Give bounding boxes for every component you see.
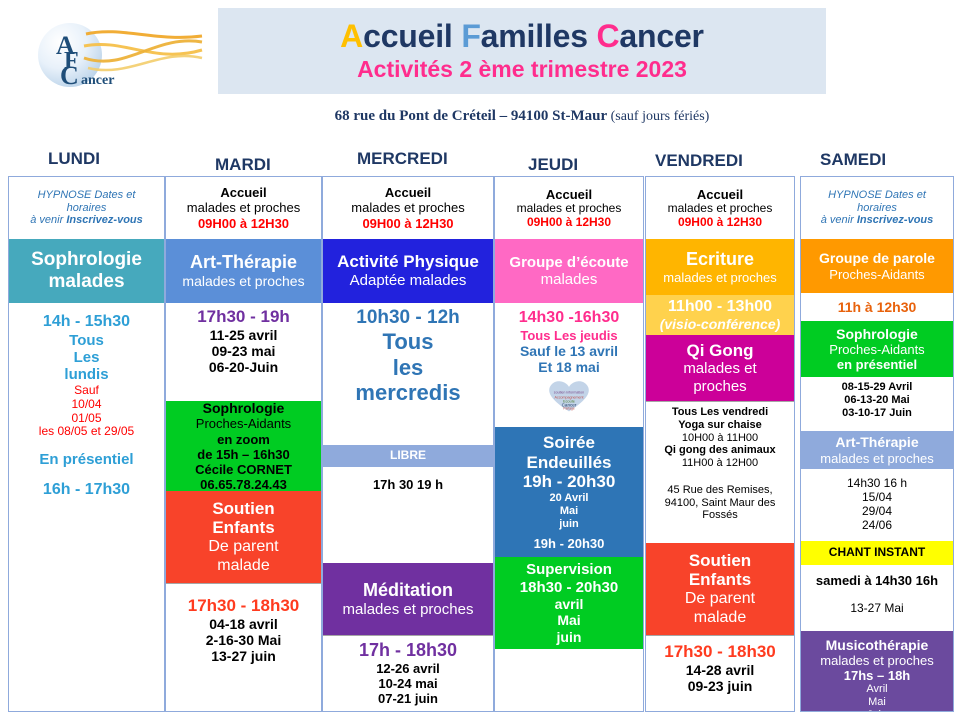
address-line: 68 rue du Pont de Créteil – 94100 St-Mau… bbox=[218, 108, 826, 125]
soutien-line3: De parent bbox=[168, 538, 319, 557]
musico-date-2: Mai bbox=[803, 696, 951, 709]
soutien-line2: Enfants bbox=[168, 518, 319, 538]
ecriture-time: 11h00 - 13h00 bbox=[648, 298, 792, 317]
vendredi-address-1: 45 Rue des Remises, bbox=[648, 484, 792, 497]
soutien-date-1: 04-18 avril bbox=[168, 616, 319, 632]
groupe-parole-time: 11h à 12h30 bbox=[803, 299, 951, 315]
musico-time: 17hs – 18h bbox=[803, 668, 951, 683]
soutien-line1: Soutien bbox=[648, 551, 792, 571]
libre-label: LIBRE bbox=[325, 449, 491, 463]
groupe-sauf-1: Sauf le 13 avril bbox=[497, 343, 641, 359]
groupe-ecoute-title: Groupe d’écoute bbox=[497, 254, 641, 271]
qigong-sub-2: proches bbox=[648, 378, 792, 395]
vendredi-ecriture-block: Ecriture malades et proches bbox=[646, 239, 794, 295]
mardi-art-dates: 17h30 - 19h 11-25 avril 09-23 mai 06-20-… bbox=[166, 303, 321, 401]
vendredi-soutien-enfants-block: Soutien Enfants De parent malade bbox=[646, 543, 794, 635]
vendredi-address-3: Fossés bbox=[648, 509, 792, 522]
mercredi-meditation-dates: 17h - 18h30 12-26 avril 10-24 mai 07-21 … bbox=[323, 635, 493, 711]
sophro-title: Sophrologie bbox=[168, 401, 319, 416]
sophro-title: Sophrologie bbox=[803, 326, 951, 342]
accueil-time: 09H00 à 12H30 bbox=[325, 216, 491, 231]
afc-cancer-logo: A F C ancer bbox=[26, 12, 206, 98]
soutien-date-2: 09-23 juin bbox=[648, 678, 792, 694]
apa-time: 10h30 - 12h bbox=[325, 307, 491, 329]
page-subtitle: Activités 2 ème trimestre 2023 bbox=[357, 57, 687, 82]
soutien-line4: malade bbox=[648, 609, 792, 628]
vendredi-info-3: 10H00 à 11H00 bbox=[648, 432, 792, 445]
soiree-time-2: 19h - 20h30 bbox=[497, 536, 641, 551]
art-therapie-sub: malades et proches bbox=[168, 273, 319, 289]
art-sub: malades et proches bbox=[803, 451, 951, 466]
musico-title: Musicothérapie bbox=[803, 637, 951, 653]
art-title: Art-Thérapie bbox=[803, 434, 951, 450]
art-date-1: 15/04 bbox=[803, 491, 951, 505]
art-date-3: 06-20-Juin bbox=[168, 359, 319, 375]
musico-date-1: Avril bbox=[803, 683, 951, 696]
hypnose-line3: à venir Inscrivez-vous bbox=[11, 214, 162, 227]
samedi-hypnose-note: HYPNOSE Dates et horaires à venir Inscri… bbox=[801, 177, 953, 239]
mardi-sophrologie-block: Sophrologie Proches-Aidants en zoom de 1… bbox=[166, 401, 321, 491]
sophro-date-1: 08-15-29 Avril bbox=[803, 381, 951, 394]
meditation-sub: malades et proches bbox=[325, 601, 491, 618]
schedule-page: A F C ancer Accueil Familles Cancer Acti… bbox=[0, 0, 960, 720]
jeudi-accueil-block: Accueil malades et proches 09H00 à 12H30 bbox=[495, 177, 643, 239]
musico-date-3: Juin bbox=[803, 709, 951, 711]
mercredi-libre-time: 17h 30 19 h bbox=[323, 467, 493, 563]
sophro-public: Proches-Aidants bbox=[803, 342, 951, 357]
hypnose-line2: horaires bbox=[11, 202, 162, 215]
mercredi-apa-block: Activité Physique Adaptée malades bbox=[323, 239, 493, 303]
soutien-date-3: 13-27 juin bbox=[168, 648, 319, 664]
day-header-mardi: MARDI bbox=[215, 155, 271, 175]
lundi-time-2: 16h - 17h30 bbox=[11, 481, 162, 500]
groupe-sauf-2: Et 18 mai bbox=[497, 359, 641, 375]
hypnose-line1: HYPNOSE Dates et bbox=[803, 189, 951, 202]
title-banner: Accueil Familles Cancer Activités 2 ème … bbox=[218, 8, 826, 94]
jeudi-supervision-block: Supervision 18h30 - 20h30 avril Mai juin bbox=[495, 557, 643, 649]
mercredi-accueil-block: Accueil malades et proches 09H00 à 12H30 bbox=[323, 177, 493, 239]
day-header-mercredi: MERCREDI bbox=[357, 149, 448, 169]
accueil-time: 09H00 à 12H30 bbox=[497, 216, 641, 230]
groupe-time: 14h30 -16h30 bbox=[497, 309, 641, 328]
soutien-date-1: 14-28 avril bbox=[648, 662, 792, 678]
soutien-line4: malade bbox=[168, 557, 319, 576]
samedi-art-dates: 14h30 16 h 15/04 29/04 24/06 bbox=[801, 469, 953, 541]
samedi-sophro-dates: 08-15-29 Avril 06-13-20 Mai 03-10-17 Jui… bbox=[801, 377, 953, 431]
groupe-parole-sub: Proches-Aidants bbox=[803, 267, 951, 282]
accueil-time: 09H00 à 12H30 bbox=[648, 216, 792, 230]
supervision-date-1: avril bbox=[497, 596, 641, 612]
musico-sub: malades et proches bbox=[803, 653, 951, 668]
column-lundi: HYPNOSE Dates et horaires à venir Inscri… bbox=[8, 176, 163, 712]
apa-tous: Tous bbox=[325, 329, 491, 355]
svg-text:ancer: ancer bbox=[81, 73, 114, 88]
mardi-soutien-enfants-block: Soutien Enfants De parent malade bbox=[166, 491, 321, 583]
art-therapie-title: Art-Thérapie bbox=[168, 252, 319, 273]
day-header-samedi: SAMEDI bbox=[820, 150, 886, 170]
day-header-vendredi: VENDREDI bbox=[655, 151, 743, 171]
accueil-sub: malades et proches bbox=[325, 200, 491, 215]
column-samedi: HYPNOSE Dates et horaires à venir Inscri… bbox=[800, 176, 952, 712]
day-header-lundi: LUNDI bbox=[48, 149, 100, 169]
lundi-tous: Tous bbox=[11, 332, 162, 349]
art-time: 14h30 16 h bbox=[803, 477, 951, 491]
ecriture-title: Ecriture bbox=[648, 249, 792, 270]
apa-title: Activité Physique bbox=[325, 252, 491, 272]
supervision-title: Supervision bbox=[497, 561, 641, 578]
art-date-1: 11-25 avril bbox=[168, 327, 319, 343]
art-date-2: 09-23 mai bbox=[168, 343, 319, 359]
meditation-time: 17h - 18h30 bbox=[325, 640, 491, 661]
mercredi-libre-band: LIBRE bbox=[323, 445, 493, 467]
vendredi-qigong-block: Qi Gong malades et proches bbox=[646, 335, 794, 401]
accueil-sub: malades et proches bbox=[168, 200, 319, 215]
accueil-title: Accueil bbox=[325, 185, 491, 200]
qigong-title: Qi Gong bbox=[648, 341, 792, 361]
sophro-mode: en présentiel bbox=[803, 357, 951, 372]
apa-mercredis: mercredis bbox=[325, 380, 491, 406]
soiree-date-1: 20 Avril bbox=[497, 492, 641, 505]
sophro-date-2: 06-13-20 Mai bbox=[803, 394, 951, 407]
soutien-line2: Enfants bbox=[648, 570, 792, 590]
vendredi-ecriture-time-block: 11h00 - 13h00 (visio-conférence) bbox=[646, 295, 794, 335]
soutien-time: 17h30 - 18h30 bbox=[648, 642, 792, 662]
hypnose-line3: à venir Inscrivez-vous bbox=[803, 214, 951, 227]
vendredi-info-2: Yoga sur chaise bbox=[648, 419, 792, 432]
chant-title: CHANT INSTANT bbox=[803, 546, 951, 560]
vendredi-info-5: 11H00 à 12H00 bbox=[648, 457, 792, 470]
lundi-date-3: les 08/05 et 29/05 bbox=[11, 425, 162, 439]
lundi-date-2: 01/05 bbox=[11, 412, 162, 426]
supervision-date-3: juin bbox=[497, 629, 641, 645]
column-vendredi: Accueil malades et proches 09H00 à 12H30… bbox=[645, 176, 793, 712]
art-date-2: 29/04 bbox=[803, 505, 951, 519]
chant-time: samedi à 14h30 16h bbox=[803, 573, 951, 588]
address-note: (sauf jours fériés) bbox=[611, 109, 710, 124]
mercredi-meditation-block: Méditation malades et proches bbox=[323, 563, 493, 635]
ecriture-note: (visio-conférence) bbox=[648, 316, 792, 332]
soutien-line1: Soutien bbox=[168, 499, 319, 519]
soutien-time: 17h30 - 18h30 bbox=[168, 596, 319, 616]
sophro-time: de 15h – 16h30 bbox=[168, 447, 319, 462]
samedi-sophrologie-block: Sophrologie Proches-Aidants en présentie… bbox=[801, 321, 953, 377]
meditation-title: Méditation bbox=[325, 580, 491, 601]
sophro-date-3: 03-10-17 Juin bbox=[803, 407, 951, 420]
ecriture-sub: malades et proches bbox=[648, 270, 792, 285]
hypnose-line2: horaires bbox=[803, 202, 951, 215]
samedi-chant-details: samedi à 14h30 16h 13-27 Mai bbox=[801, 565, 953, 631]
soiree-line2: Endeuillés bbox=[497, 453, 641, 473]
chant-dates: 13-27 Mai bbox=[803, 602, 951, 616]
svg-text:Partage: Partage bbox=[563, 407, 575, 411]
vendredi-soutien-dates: 17h30 - 18h30 14-28 avril 09-23 juin bbox=[646, 635, 794, 711]
accueil-sub: malades et proches bbox=[648, 202, 792, 216]
accueil-sub: malades et proches bbox=[497, 202, 641, 216]
samedi-groupe-time: 11h à 12h30 bbox=[801, 293, 953, 321]
supervision-date-2: Mai bbox=[497, 612, 641, 628]
jeudi-soiree-endeuilles-block: Soirée Endeuillés 19h - 20h30 20 Avril M… bbox=[495, 427, 643, 531]
groupe-tous-jeudis: Tous Les jeudis bbox=[497, 328, 641, 343]
address-main: 68 rue du Pont de Créteil – 94100 St-Mau… bbox=[335, 108, 607, 124]
samedi-musicotherapie-block: Musicothérapie malades et proches 17hs –… bbox=[801, 631, 953, 711]
soutien-line3: De parent bbox=[648, 590, 792, 609]
jeudi-soiree-time-band: 19h - 20h30 bbox=[495, 531, 643, 557]
soiree-line1: Soirée bbox=[497, 433, 641, 453]
lundi-les: Les bbox=[11, 349, 162, 366]
accueil-title: Accueil bbox=[497, 187, 641, 202]
art-date-3: 24/06 bbox=[803, 519, 951, 533]
soutien-date-2: 2-16-30 Mai bbox=[168, 632, 319, 648]
supervision-time: 18h30 - 20h30 bbox=[497, 579, 641, 596]
apa-sub: Adaptée malades bbox=[325, 272, 491, 289]
vendredi-info-details: Tous Les vendredi Yoga sur chaise 10H00 … bbox=[646, 401, 794, 543]
accueil-time: 09H00 à 12H30 bbox=[168, 216, 319, 231]
ecoute-cancer-partage-heart-icon: soutien information Accompagnement Ecout… bbox=[540, 377, 598, 413]
column-mardi: Accueil malades et proches 09H00 à 12H30… bbox=[165, 176, 320, 712]
accueil-title: Accueil bbox=[168, 185, 319, 200]
sophro-contact-phone: 06.65.78.24.43 bbox=[168, 477, 319, 491]
accueil-title: Accueil bbox=[648, 187, 792, 202]
mardi-accueil-block: Accueil malades et proches 09H00 à 12H30 bbox=[166, 177, 321, 239]
mardi-art-therapie-block: Art-Thérapie malades et proches bbox=[166, 239, 321, 303]
meditation-date-2: 10-24 mai bbox=[325, 676, 491, 691]
svg-text:soutien information: soutien information bbox=[554, 390, 584, 394]
lundi-time-1: 14h - 15h30 bbox=[11, 313, 162, 332]
lundi-hypnose-note: HYPNOSE Dates et horaires à venir Inscri… bbox=[9, 177, 164, 239]
sophrologie-sub: malades bbox=[11, 271, 162, 293]
libre-time: 17h 30 19 h bbox=[325, 477, 491, 492]
jeudi-groupe-ecoute-block: Groupe d’écoute malades bbox=[495, 239, 643, 303]
samedi-groupe-parole-block: Groupe de parole Proches-Aidants bbox=[801, 239, 953, 293]
art-time: 17h30 - 19h bbox=[168, 307, 319, 327]
groupe-ecoute-sub: malades bbox=[497, 271, 641, 288]
column-jeudi: Accueil malades et proches 09H00 à 12H30… bbox=[494, 176, 642, 712]
groupe-parole-title: Groupe de parole bbox=[803, 250, 951, 266]
lundi-lundis: lundis bbox=[11, 366, 162, 383]
page-title: Accueil Familles Cancer bbox=[340, 20, 704, 54]
meditation-date-1: 12-26 avril bbox=[325, 661, 491, 676]
sophro-mode: en zoom bbox=[168, 432, 319, 447]
soiree-time: 19h - 20h30 bbox=[497, 472, 641, 492]
vendredi-info-4: Qi gong des animaux bbox=[648, 444, 792, 457]
day-header-jeudi: JEUDI bbox=[528, 155, 578, 175]
jeudi-groupe-details: 14h30 -16h30 Tous Les jeudis Sauf le 13 … bbox=[495, 303, 643, 427]
sophro-contact-name: Cécile CORNET bbox=[168, 462, 319, 477]
soiree-date-3: juin bbox=[497, 518, 641, 531]
column-mercredi: Accueil malades et proches 09H00 à 12H30… bbox=[322, 176, 492, 712]
sophrologie-title: Sophrologie bbox=[11, 249, 162, 271]
lundi-sauf: Sauf bbox=[11, 384, 162, 398]
apa-les: les bbox=[325, 355, 491, 381]
mercredi-apa-details: 10h30 - 12h Tous les mercredis bbox=[323, 303, 493, 439]
hypnose-line1: HYPNOSE Dates et bbox=[11, 189, 162, 202]
lundi-sophrologie-block: Sophrologie malades bbox=[9, 239, 164, 303]
meditation-date-3: 07-21 juin bbox=[325, 691, 491, 706]
vendredi-address-2: 94100, Saint Maur des bbox=[648, 497, 792, 510]
mardi-soutien-dates: 17h30 - 18h30 04-18 avril 2-16-30 Mai 13… bbox=[166, 583, 321, 679]
sophro-public: Proches-Aidants bbox=[168, 416, 319, 431]
soiree-date-2: Mai bbox=[497, 505, 641, 518]
lundi-presentiel: En présentiel bbox=[11, 451, 162, 468]
vendredi-accueil-block: Accueil malades et proches 09H00 à 12H30 bbox=[646, 177, 794, 239]
qigong-sub-1: malades et bbox=[648, 360, 792, 377]
samedi-art-therapie-block: Art-Thérapie malades et proches bbox=[801, 431, 953, 469]
samedi-chant-band: CHANT INSTANT bbox=[801, 541, 953, 565]
lundi-date-1: 10/04 bbox=[11, 398, 162, 412]
vendredi-info-1: Tous Les vendredi bbox=[648, 406, 792, 419]
svg-text:C: C bbox=[60, 61, 79, 90]
lundi-details: 14h - 15h30 Tous Les lundis Sauf 10/04 0… bbox=[9, 307, 164, 507]
